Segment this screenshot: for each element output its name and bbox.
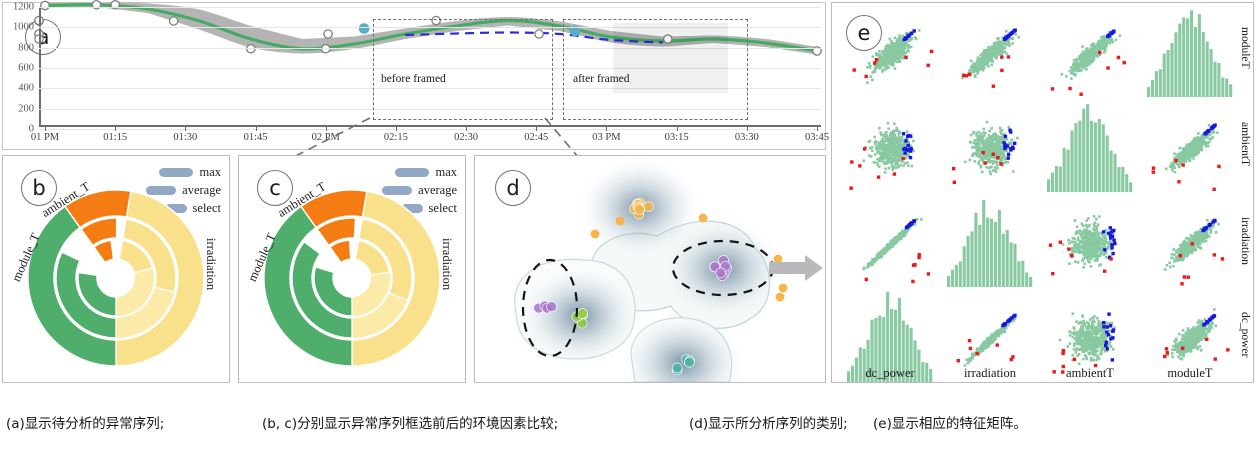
splom-point — [981, 171, 984, 174]
splom-alert-point — [1183, 275, 1186, 278]
panel-a-selected-point[interactable] — [359, 23, 370, 34]
histogram-bar — [1047, 179, 1050, 192]
histogram-bar — [1113, 154, 1116, 192]
splom-point — [1008, 126, 1011, 129]
histogram-bar — [847, 371, 850, 382]
cluster-point[interactable] — [635, 205, 645, 215]
splom-point — [1197, 237, 1200, 240]
splom-point — [1096, 226, 1099, 229]
splom-anomaly-point — [1103, 248, 1106, 251]
panel-d-cluster-map[interactable]: d — [474, 155, 826, 383]
splom-point — [1081, 251, 1084, 254]
splom-point — [984, 345, 987, 348]
histogram-bar — [1017, 261, 1020, 287]
splom-point — [1197, 241, 1200, 244]
splom-point — [887, 140, 890, 143]
splom-alert-point — [1152, 166, 1155, 169]
splom-point — [891, 135, 894, 138]
splom-alert-point — [983, 161, 986, 164]
splom-point — [987, 148, 990, 151]
cluster-point[interactable] — [644, 202, 654, 212]
histogram-bar — [1010, 243, 1013, 287]
splom-alert-point — [1000, 55, 1003, 58]
histogram-bar — [859, 347, 862, 382]
splom-point — [893, 149, 896, 152]
panel-a-time-series[interactable]: a 02004006008001000120001 PM01:1501:3001… — [2, 2, 826, 150]
outlier-point[interactable] — [616, 217, 625, 226]
panel-a-x-tick-mark — [536, 127, 537, 131]
panel-a-data-point[interactable] — [247, 45, 255, 53]
splom-anomaly-point — [1013, 142, 1016, 145]
splom-point — [876, 158, 879, 161]
splom-point — [964, 161, 967, 164]
splom-point — [884, 61, 887, 64]
splom-point — [996, 47, 999, 50]
splom-point — [995, 145, 998, 148]
splom-anomaly-point — [1008, 129, 1011, 132]
splom-point — [1016, 137, 1019, 140]
splom-point — [977, 155, 980, 158]
splom-point — [969, 141, 972, 144]
panel-a-x-tick-mark — [115, 127, 116, 131]
splom-anomaly-point — [1007, 156, 1010, 159]
splom-point — [1082, 238, 1085, 241]
splom-point — [1097, 240, 1100, 243]
splom-cell-scatter[interactable] — [1051, 30, 1126, 96]
splom-point — [982, 131, 985, 134]
splom-point — [874, 143, 877, 146]
splom-point — [984, 63, 987, 66]
splom-point — [996, 167, 999, 170]
splom-point — [1188, 150, 1191, 153]
splom-point — [1077, 243, 1080, 246]
splom-point — [896, 39, 899, 42]
splom-point — [1076, 69, 1079, 72]
splom-point — [1109, 42, 1112, 45]
histogram-bar — [1182, 17, 1185, 97]
cluster-point[interactable] — [684, 357, 694, 367]
splom-point — [882, 134, 885, 137]
outlier-point[interactable] — [591, 230, 600, 239]
splom-cell-scatter[interactable] — [1053, 312, 1116, 373]
histogram-bar — [1025, 273, 1028, 287]
splom-point — [890, 154, 893, 157]
splom-alert-point — [1098, 51, 1101, 54]
cluster-point[interactable] — [672, 363, 682, 373]
splom-point — [1101, 238, 1104, 241]
splom-point — [1204, 233, 1207, 236]
splom-point — [1075, 243, 1078, 246]
splom-point — [1090, 233, 1093, 236]
splom-point — [971, 155, 974, 158]
panel-a-x-tick-label: 02:45 — [524, 132, 548, 143]
histogram-bar — [1098, 119, 1101, 192]
splom-point — [1111, 41, 1114, 44]
splom-point — [1095, 218, 1098, 221]
panel-b-radial-before[interactable]: b maxaverageselect ambient_T module_T ir… — [2, 155, 230, 383]
splom-point — [1014, 33, 1017, 36]
splom-anomaly-point — [1112, 238, 1115, 241]
splom-point — [890, 41, 893, 44]
splom-cell-scatter[interactable] — [961, 28, 1020, 87]
splom-alert-point — [1212, 188, 1215, 191]
splom-point — [868, 262, 871, 265]
splom-point — [1196, 145, 1199, 148]
splom-point — [1084, 354, 1087, 357]
splom-point — [1071, 237, 1074, 240]
splom-point — [984, 145, 987, 148]
splom-point — [986, 143, 989, 146]
splom-point — [878, 127, 881, 130]
splom-point — [1080, 64, 1083, 67]
panel-a-data-point[interactable] — [169, 17, 177, 25]
histogram-bar — [963, 246, 966, 287]
splom-point — [1089, 57, 1092, 60]
splom-point — [1180, 159, 1183, 162]
splom-point — [1090, 249, 1093, 252]
histogram-bar — [1213, 62, 1216, 97]
splom-point — [890, 141, 893, 144]
splom-anomaly-point — [1004, 135, 1007, 138]
legend-item[interactable]: max — [382, 164, 457, 180]
splom-anomaly-point — [903, 151, 906, 154]
splom-point — [868, 154, 871, 157]
splom-alert-point — [1123, 61, 1126, 64]
splom-point — [1073, 348, 1076, 351]
splom-anomaly-point — [1003, 37, 1006, 40]
outlier-point[interactable] — [779, 284, 788, 293]
splom-anomaly-point — [910, 32, 913, 35]
histogram-bar — [1102, 124, 1105, 192]
splom-cell-scatter[interactable] — [1049, 215, 1117, 275]
histogram-bar — [1117, 167, 1120, 192]
splom-anomaly-point — [1212, 124, 1215, 127]
splom-point — [987, 46, 990, 49]
panel-a-x-tick-mark — [817, 127, 818, 131]
histogram-bar — [1202, 32, 1205, 97]
histogram-bar — [1055, 166, 1058, 192]
splom-point — [900, 42, 903, 45]
splom-anomaly-point — [1204, 227, 1207, 230]
splom-point — [895, 139, 898, 142]
splom-alert-point — [1217, 165, 1220, 168]
splom-point — [1085, 68, 1088, 71]
splom-cell-scatter[interactable] — [952, 121, 1019, 184]
splom-point — [994, 166, 997, 169]
splom-point — [897, 160, 900, 163]
splom-alert-point — [1186, 275, 1189, 278]
splom-point — [1209, 134, 1212, 137]
splom-point — [874, 259, 877, 262]
splom-point — [896, 60, 899, 63]
panel-a-data-point[interactable] — [322, 45, 330, 53]
splom-point — [1098, 236, 1101, 239]
splom-point — [902, 164, 905, 167]
splom-alert-point — [853, 68, 856, 71]
splom-anomaly-point — [1207, 224, 1210, 227]
panel-c-radial-after[interactable]: c maxaverageselect ambient_T module_T ir… — [238, 155, 466, 383]
splom-cell-histogram[interactable] — [947, 200, 1032, 287]
splom-point — [896, 45, 899, 48]
splom-alert-point — [930, 50, 933, 53]
splom-point — [1217, 223, 1220, 226]
histogram-bar — [921, 362, 924, 382]
splom-point — [1093, 237, 1096, 240]
splom-point — [1083, 262, 1086, 265]
splom-point — [1189, 153, 1192, 156]
splom-point — [1082, 224, 1085, 227]
splom-cell-histogram[interactable] — [1047, 104, 1132, 192]
splom-point — [982, 69, 985, 72]
splom-point — [887, 137, 890, 140]
splom-point — [1090, 246, 1093, 249]
splom-point — [882, 138, 885, 141]
splom-point — [999, 151, 1002, 154]
splom-anomaly-point — [1011, 147, 1014, 150]
splom-point — [875, 53, 878, 56]
splom-point — [894, 37, 897, 40]
panel-a-data-point[interactable] — [41, 1, 49, 9]
splom-alert-point — [850, 160, 853, 163]
before-framed-box[interactable] — [373, 19, 553, 120]
splom-point — [1082, 231, 1085, 234]
splom-point — [978, 68, 981, 71]
splom-point — [988, 130, 991, 133]
splom-point — [1174, 171, 1177, 174]
histogram-bar — [1094, 122, 1097, 192]
splom-point — [900, 49, 903, 52]
splom-point — [975, 63, 978, 66]
histogram-bar — [1190, 10, 1193, 97]
histogram-bar — [1086, 104, 1089, 192]
splom-point — [1080, 235, 1083, 238]
panel-a-selection-shade — [613, 23, 728, 93]
splom-point — [1199, 236, 1202, 239]
histogram-bar — [994, 222, 997, 287]
splom-anomaly-point — [1110, 243, 1113, 246]
splom-cell-scatter[interactable] — [957, 314, 1017, 367]
splom-point — [985, 54, 988, 57]
splom-point — [992, 160, 995, 163]
splom-point — [894, 52, 897, 55]
histogram-bar — [1070, 131, 1073, 192]
splom-point — [907, 141, 910, 144]
splom-point — [976, 72, 979, 75]
panel-a-x-axis — [39, 125, 821, 128]
splom-point — [992, 162, 995, 165]
panel-a-x-tick-mark — [677, 127, 678, 131]
splom-point — [879, 131, 882, 134]
splom-point — [916, 218, 919, 221]
histogram-bar — [1147, 87, 1150, 97]
splom-point — [1076, 63, 1079, 66]
splom-point — [892, 158, 895, 161]
splom-point — [883, 250, 886, 253]
splom-anomaly-point — [1012, 29, 1015, 32]
splom-point — [1089, 237, 1092, 240]
panel-e-chart-svg[interactable] — [832, 3, 1253, 382]
splom-cell-scatter[interactable] — [849, 122, 914, 190]
panel-a-x-tick-label: 03:30 — [735, 132, 759, 143]
legend-item[interactable]: max — [146, 164, 221, 180]
cluster-point[interactable] — [578, 308, 588, 318]
splom-point — [887, 44, 890, 47]
splom-anomaly-point — [1112, 30, 1115, 33]
splom-alert-point — [1070, 254, 1073, 257]
panel-a-x-tick-label: 02 PM — [312, 132, 340, 143]
splom-point — [1171, 253, 1174, 256]
splom-point — [900, 47, 903, 50]
splom-cell-scatter[interactable] — [862, 218, 930, 283]
splom-anomaly-point — [1113, 242, 1116, 245]
splom-alert-point — [901, 157, 904, 160]
splom-point — [982, 57, 985, 60]
panel-d-chart-svg[interactable] — [475, 156, 825, 382]
splom-point — [888, 167, 891, 170]
splom-point — [1082, 240, 1085, 243]
outlier-point[interactable] — [776, 293, 785, 302]
splom-point — [883, 147, 886, 150]
splom-point — [1184, 247, 1187, 250]
splom-point — [874, 153, 877, 156]
splom-point — [1076, 246, 1079, 249]
splom-point — [1172, 265, 1175, 268]
splom-point — [904, 42, 907, 45]
splom-point — [1082, 258, 1085, 261]
cluster-point[interactable] — [716, 268, 726, 278]
splom-cell-scatter[interactable] — [1164, 219, 1224, 286]
splom-point — [1079, 247, 1082, 250]
splom-point — [868, 62, 871, 65]
splom-point — [1074, 219, 1077, 222]
splom-point — [887, 247, 890, 250]
splom-cell-scatter[interactable] — [1152, 124, 1221, 191]
splom-point — [989, 173, 992, 176]
splom-point — [905, 157, 908, 160]
splom-point — [887, 155, 890, 158]
histogram-bar — [1229, 84, 1232, 97]
splom-point — [1074, 240, 1077, 243]
splom-point — [918, 29, 921, 32]
splom-point — [990, 47, 993, 50]
panel-a-x-tick-label: 01:30 — [173, 132, 197, 143]
splom-alert-point — [996, 343, 999, 346]
splom-point — [1171, 162, 1174, 165]
splom-point — [1205, 240, 1208, 243]
splom-point — [1004, 43, 1007, 46]
splom-point — [1182, 252, 1185, 255]
splom-point — [898, 59, 901, 62]
splom-alert-point — [968, 73, 971, 76]
splom-alert-point — [875, 58, 878, 61]
cluster-point[interactable] — [547, 302, 557, 312]
splom-point — [1194, 149, 1197, 152]
splom-point — [1098, 39, 1101, 42]
splom-point — [866, 66, 869, 69]
splom-point — [895, 146, 898, 149]
splom-point — [1185, 250, 1188, 253]
histogram-bar — [1170, 43, 1173, 97]
splom-point — [1001, 158, 1004, 161]
histogram-bar — [1063, 148, 1066, 192]
splom-point — [990, 145, 993, 148]
splom-point — [1000, 44, 1003, 47]
splom-point — [997, 37, 1000, 40]
splom-alert-point — [969, 347, 972, 350]
splom-point — [1201, 149, 1204, 152]
histogram-bar — [1006, 230, 1009, 287]
splom-point — [901, 136, 904, 139]
splom-point — [1100, 253, 1103, 256]
splom-point — [1101, 243, 1104, 246]
splom-cell-histogram[interactable] — [1147, 10, 1232, 97]
splom-point — [988, 136, 991, 139]
splom-point — [1092, 228, 1095, 231]
splom-point — [1104, 237, 1107, 240]
splom-point — [976, 59, 979, 62]
splom-alert-point — [1007, 55, 1010, 58]
splom-point — [898, 154, 901, 157]
splom-point — [967, 358, 970, 361]
splom-point — [1087, 60, 1090, 63]
splom-point — [1175, 251, 1178, 254]
splom-point — [982, 128, 985, 131]
splom-point — [897, 166, 900, 169]
splom-anomaly-point — [1002, 323, 1005, 326]
histogram-bar — [1221, 78, 1224, 97]
splom-anomaly-point — [1102, 230, 1105, 233]
splom-anomaly-point — [1007, 319, 1010, 322]
splom-point — [903, 51, 906, 54]
splom-point — [1098, 48, 1101, 51]
panel-e-scatterplot-matrix[interactable]: e moduleT ambientT irradiation dc_power … — [831, 2, 1254, 383]
splom-point — [889, 38, 892, 41]
panel-a-x-tick-label: 02:15 — [384, 132, 408, 143]
splom-point — [974, 139, 977, 142]
panel-a-data-point[interactable] — [324, 30, 332, 38]
splom-point — [1098, 215, 1101, 218]
splom-point — [1086, 248, 1089, 251]
splom-anomaly-point — [1002, 141, 1005, 144]
splom-point — [990, 150, 993, 153]
splom-point — [1082, 66, 1085, 69]
splom-point — [995, 153, 998, 156]
splom-point — [877, 141, 880, 144]
splom-point — [973, 160, 976, 163]
splom-point — [1107, 247, 1110, 250]
splom-point — [971, 71, 974, 74]
panel-a-x-tick-label: 01 PM — [31, 132, 59, 143]
splom-point — [986, 121, 989, 124]
splom-alert-point — [893, 172, 896, 175]
panel-a-x-tick-label: 02:30 — [454, 132, 478, 143]
splom-point — [1086, 47, 1089, 50]
splom-point — [914, 223, 917, 226]
splom-point — [990, 127, 993, 130]
splom-alert-point — [1000, 69, 1003, 72]
splom-point — [889, 48, 892, 51]
splom-point — [886, 48, 889, 51]
splom-point — [1115, 39, 1118, 42]
splom-alert-point — [996, 156, 999, 159]
splom-point — [1097, 248, 1100, 251]
splom-point — [1062, 243, 1065, 246]
outlier-point[interactable] — [699, 214, 708, 223]
splom-alert-point — [858, 164, 861, 167]
splom-point — [1083, 58, 1086, 61]
splom-point — [889, 245, 892, 248]
splom-point — [878, 65, 881, 68]
